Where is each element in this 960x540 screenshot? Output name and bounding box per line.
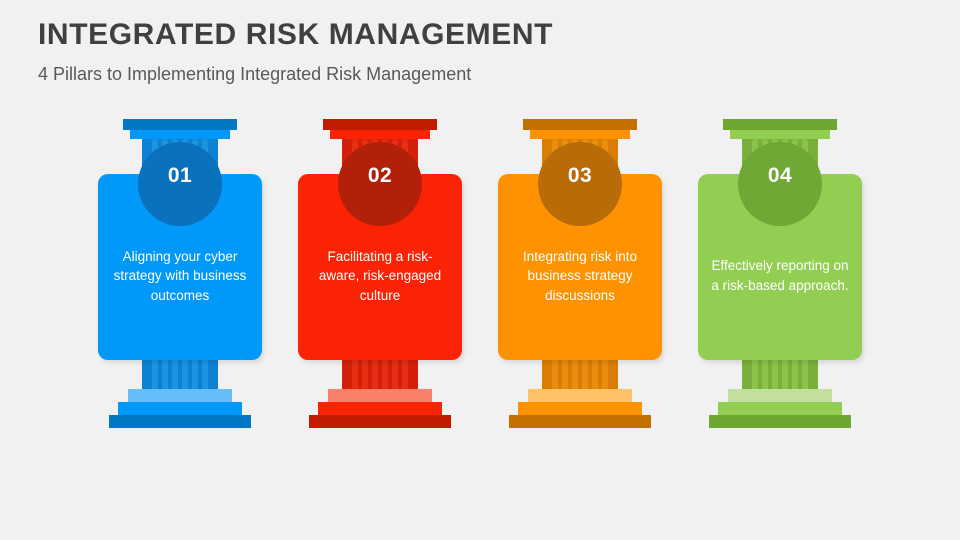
pillar-card-text: Integrating risk into business strategy …: [510, 247, 650, 306]
pillar-base-step-bright: [718, 402, 842, 415]
pillar-card-text: Aligning your cyber strategy with busine…: [110, 247, 250, 306]
pillar-base-plinth: [109, 415, 251, 428]
pillar-base-step-bright: [318, 402, 442, 415]
pillar-capital-abacus: [323, 119, 437, 130]
pillar-base-plinth: [309, 415, 451, 428]
pillar-3[interactable]: Integrating risk into business strategy …: [480, 112, 680, 432]
pillar-number-badge[interactable]: 03: [538, 142, 622, 226]
pillar-card-text: Facilitating a risk-aware, risk-engaged …: [310, 247, 450, 306]
pillar-base-step-light: [528, 389, 632, 402]
page-subtitle: 4 Pillars to Implementing Integrated Ris…: [38, 64, 553, 85]
pillar-capital-abacus: [723, 119, 837, 130]
pillar-2[interactable]: Facilitating a risk-aware, risk-engaged …: [280, 112, 480, 432]
pillar-number-badge[interactable]: 01: [138, 142, 222, 226]
pillar-base-step-bright: [118, 402, 242, 415]
pillar-number-label: 02: [368, 164, 392, 188]
pillar-number-label: 01: [168, 164, 192, 188]
pillar-base-plinth: [509, 415, 651, 428]
pillar-4[interactable]: Effectively reporting on a risk-based ap…: [680, 112, 880, 432]
pillar-card-text: Effectively reporting on a risk-based ap…: [710, 256, 850, 295]
pillar-capital-band: [130, 130, 230, 139]
pillar-capital-abacus: [523, 119, 637, 130]
pillar-base-step-bright: [518, 402, 642, 415]
pillar-diagram: Aligning your cyber strategy with busine…: [0, 112, 960, 432]
pillar-number-label: 04: [768, 164, 792, 188]
pillar-capital-band: [530, 130, 630, 139]
pillar-capital-band: [330, 130, 430, 139]
page-title: INTEGRATED RISK MANAGEMENT: [38, 18, 553, 52]
pillar-base-step-light: [728, 389, 832, 402]
pillar-base-step-light: [328, 389, 432, 402]
pillar-1[interactable]: Aligning your cyber strategy with busine…: [80, 112, 280, 432]
pillar-number-label: 03: [568, 164, 592, 188]
pillar-capital-abacus: [123, 119, 237, 130]
pillar-number-badge[interactable]: 02: [338, 142, 422, 226]
pillar-capital-band: [730, 130, 830, 139]
pillar-base-step-light: [128, 389, 232, 402]
pillar-base-plinth: [709, 415, 851, 428]
pillar-number-badge[interactable]: 04: [738, 142, 822, 226]
slide-header: INTEGRATED RISK MANAGEMENT 4 Pillars to …: [38, 18, 553, 85]
